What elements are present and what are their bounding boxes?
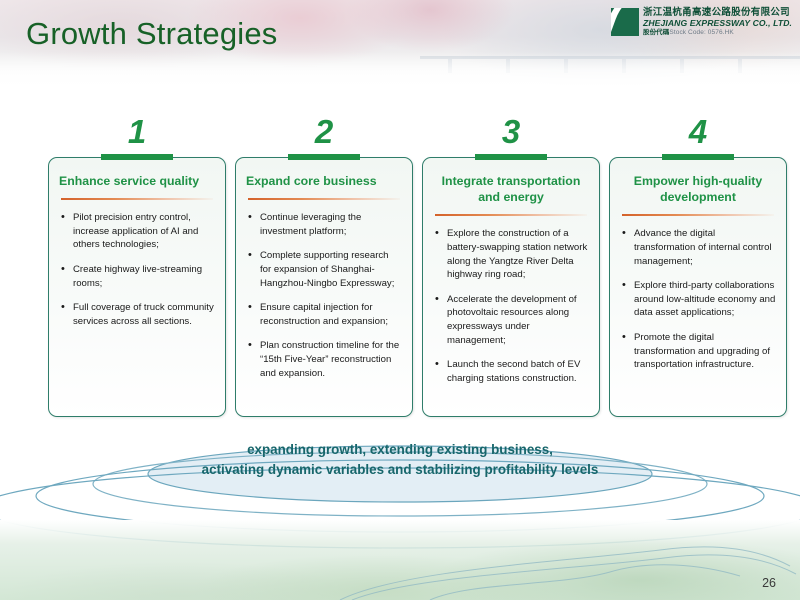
column-number: 3 [422, 110, 600, 154]
strategy-columns: 1Enhance service qualityPilot precision … [48, 110, 764, 417]
card-title: Empower high-quality development [620, 173, 776, 205]
strategy-card[interactable]: Expand core businessContinue leveraging … [235, 157, 413, 417]
list-item: Continue leveraging the investment platf… [246, 211, 402, 238]
card-bullet-list: Advance the digital transformation of in… [620, 227, 776, 371]
card-bullet-list: Explore the construction of a battery-sw… [433, 227, 589, 385]
column-accent-bar [475, 154, 547, 160]
column-accent-bar [662, 154, 734, 160]
card-divider [248, 198, 400, 200]
card-bullet-list: Pilot precision entry control, increase … [59, 211, 215, 328]
zhejiang-expressway-logo-icon [611, 8, 639, 36]
strategy-column-2: 2Expand core businessContinue leveraging… [235, 110, 413, 417]
card-title: Expand core business [246, 173, 402, 189]
logo-text-block: 浙江温杭甬高速公路股份有限公司 ZHEJIANG EXPRESSWAY CO.,… [643, 8, 792, 37]
list-item: Full coverage of truck community service… [59, 301, 215, 328]
header-fade-overlay [0, 52, 800, 92]
strategy-column-1: 1Enhance service qualityPilot precision … [48, 110, 226, 417]
list-item: Accelerate the development of photovolta… [433, 293, 589, 347]
logo-stock-code: 股份代碼Stock Code: 0576.HK [643, 30, 792, 37]
logo-company-name-cn: 浙江温杭甬高速公路股份有限公司 [643, 8, 792, 18]
winding-road-illustration-icon [0, 520, 800, 600]
column-number: 4 [609, 110, 787, 154]
list-item: Explore the construction of a battery-sw… [433, 227, 589, 281]
column-accent-bar [288, 154, 360, 160]
logo-stock-label-en: Stock Code: 0576.HK [669, 29, 733, 36]
list-item: Create highway live-streaming rooms; [59, 263, 215, 290]
card-bullet-list: Continue leveraging the investment platf… [246, 211, 402, 380]
column-number: 1 [48, 110, 226, 154]
list-item: Plan construction timeline for the “15th… [246, 339, 402, 380]
strategy-card[interactable]: Integrate transportation and energyExplo… [422, 157, 600, 417]
strategy-card[interactable]: Empower high-quality developmentAdvance … [609, 157, 787, 417]
column-number: 2 [235, 110, 413, 154]
page-number: 26 [762, 576, 776, 590]
list-item: Launch the second batch of EV charging s… [433, 358, 589, 385]
card-title: Integrate transportation and energy [433, 173, 589, 205]
logo-company-name-en: ZHEJIANG EXPRESSWAY CO., LTD. [643, 19, 792, 28]
tagline: expanding growth, extending existing bus… [0, 440, 800, 481]
list-item: Pilot precision entry control, increase … [59, 211, 215, 252]
card-divider [622, 214, 774, 216]
list-item: Complete supporting research for expansi… [246, 249, 402, 290]
company-logo: 浙江温杭甬高速公路股份有限公司 ZHEJIANG EXPRESSWAY CO.,… [611, 8, 792, 37]
strategy-column-4: 4Empower high-quality developmentAdvance… [609, 110, 787, 417]
tagline-line-2: activating dynamic variables and stabili… [0, 460, 800, 480]
strategy-card[interactable]: Enhance service qualityPilot precision e… [48, 157, 226, 417]
list-item: Promote the digital transformation and u… [620, 331, 776, 372]
logo-stock-label-cn: 股份代碼 [643, 29, 669, 36]
list-item: Explore third-party collaborations aroun… [620, 279, 776, 320]
bottom-landscape-photo: 26 [0, 520, 800, 600]
tagline-line-1: expanding growth, extending existing bus… [0, 440, 800, 460]
slide: Growth Strategies 浙江温杭甬高速公路股份有限公司 ZHEJIA… [0, 0, 800, 600]
column-accent-bar [101, 154, 173, 160]
list-item: Ensure capital injection for reconstruct… [246, 301, 402, 328]
strategy-column-3: 3Integrate transportation and energyExpl… [422, 110, 600, 417]
card-title: Enhance service quality [59, 173, 215, 189]
card-divider [435, 214, 587, 216]
card-divider [61, 198, 213, 200]
page-title: Growth Strategies [26, 16, 278, 52]
list-item: Advance the digital transformation of in… [620, 227, 776, 268]
